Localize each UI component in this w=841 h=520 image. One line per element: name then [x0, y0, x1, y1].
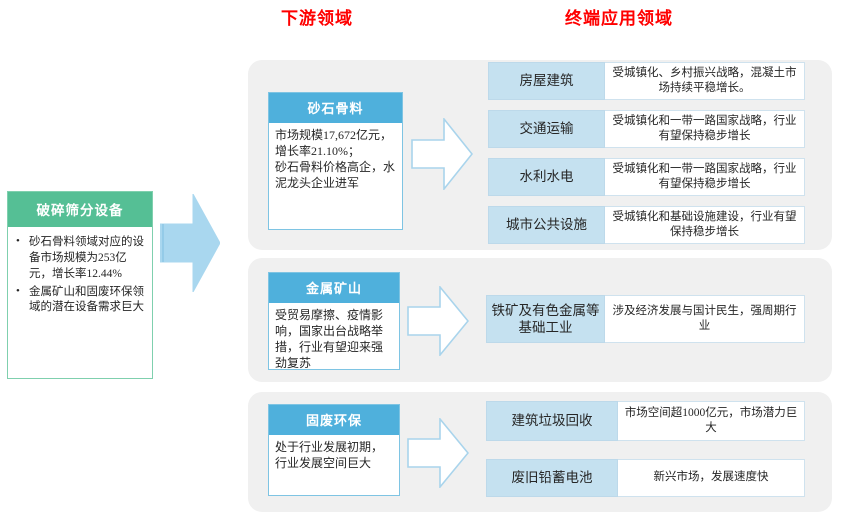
segment-box-solid-waste: 固废环保 处于行业发展初期，行业发展空间巨大 — [268, 404, 400, 496]
application-description: 涉及经济发展与国计民生，强周期行业 — [605, 295, 805, 343]
application-name: 房屋建筑 — [488, 62, 605, 100]
flow-arrow-icon-1 — [411, 118, 473, 190]
list-item: 砂石骨料领域对应的设备市场规模为253亿元，增长率12.44% — [29, 235, 146, 283]
application-row: 水利水电 受城镇化和一带一路国家战略，行业有望保持稳步增长 — [488, 158, 805, 196]
segment-box-metal-mine: 金属矿山 受贸易摩擦、疫情影响，国家出台战略举措，行业有望迎来强劲复苏 — [268, 272, 400, 370]
segment-body: 受贸易摩擦、疫情影响，国家出台战略举措，行业有望迎来强劲复苏 — [269, 303, 399, 376]
column-header-terminal: 终端应用领域 — [565, 4, 673, 29]
segment-body: 处于行业发展初期，行业发展空间巨大 — [269, 435, 399, 476]
segment-body: 市场规模17,672亿元，增长率21.10%； 砂石骨料价格高企，水泥龙头企业进… — [269, 123, 402, 196]
equipment-bullet-list: 砂石骨料领域对应的设备市场规模为253亿元，增长率12.44% 金属矿山和固废环… — [12, 235, 146, 316]
application-name: 水利水电 — [488, 158, 605, 196]
application-row: 废旧铅蓄电池 新兴市场，发展速度快 — [486, 459, 805, 497]
application-row: 建筑垃圾回收 市场空间超1000亿元，市场潜力巨大 — [486, 401, 805, 441]
application-description: 新兴市场，发展速度快 — [618, 459, 805, 497]
flow-arrow-icon-2 — [407, 286, 469, 356]
column-header-midstream: 下游领域 — [281, 4, 353, 29]
application-row: 铁矿及有色金属等基础工业 涉及经济发展与国计民生，强周期行业 — [486, 295, 805, 343]
application-description: 受城镇化和一带一路国家战略，行业有望保持稳步增长 — [605, 158, 805, 196]
application-name: 建筑垃圾回收 — [486, 401, 618, 441]
application-description: 市场空间超1000亿元，市场潜力巨大 — [618, 401, 805, 441]
application-name: 铁矿及有色金属等基础工业 — [486, 295, 605, 343]
application-row: 房屋建筑 受城镇化、乡村振兴战略，混凝土市场持续平稳增长。 — [488, 62, 805, 100]
list-item: 金属矿山和固废环保领域的潜在设备需求巨大 — [29, 285, 146, 317]
segment-box-aggregate: 砂石骨料 市场规模17,672亿元，增长率21.10%； 砂石骨料价格高企，水泥… — [268, 92, 403, 230]
application-description: 受城镇化和基础设施建设，行业有望保持稳步增长 — [605, 206, 805, 244]
segment-title: 金属矿山 — [269, 273, 399, 303]
flow-arrow-icon-3 — [407, 418, 469, 488]
segment-title: 砂石骨料 — [269, 93, 402, 123]
flow-arrow-icon-main — [160, 194, 220, 292]
application-name: 城市公共设施 — [488, 206, 605, 244]
application-name: 废旧铅蓄电池 — [486, 459, 618, 497]
application-description: 受城镇化和一带一路国家战略，行业有望保持稳步增长 — [605, 110, 805, 148]
equipment-card: 破碎筛分设备 砂石骨料领域对应的设备市场规模为253亿元，增长率12.44% 金… — [7, 191, 153, 379]
application-row: 交通运输 受城镇化和一带一路国家战略，行业有望保持稳步增长 — [488, 110, 805, 148]
segment-title: 固废环保 — [269, 405, 399, 435]
equipment-card-title: 破碎筛分设备 — [8, 192, 152, 227]
application-name: 交通运输 — [488, 110, 605, 148]
application-description: 受城镇化、乡村振兴战略，混凝土市场持续平稳增长。 — [605, 62, 805, 100]
application-row: 城市公共设施 受城镇化和基础设施建设，行业有望保持稳步增长 — [488, 206, 805, 244]
equipment-card-body: 砂石骨料领域对应的设备市场规模为253亿元，增长率12.44% 金属矿山和固废环… — [8, 227, 152, 322]
